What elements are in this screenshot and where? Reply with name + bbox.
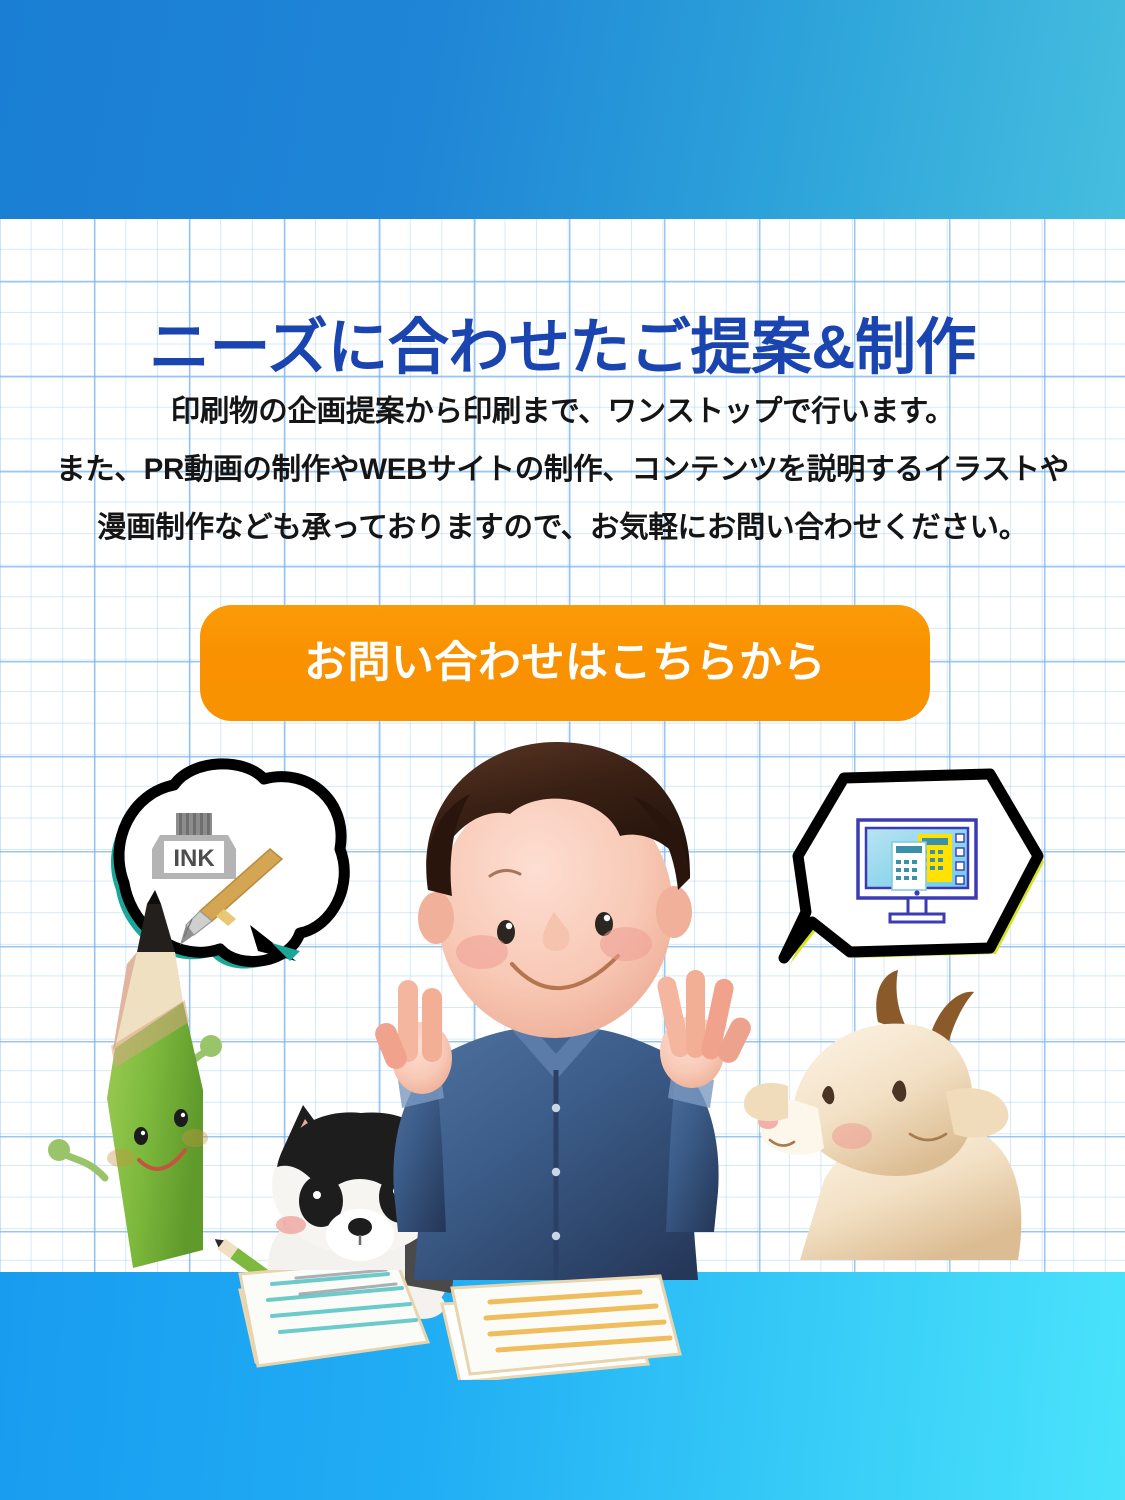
table-papers-layer <box>0 1270 1125 1430</box>
lead-line-1: 印刷物の企画提案から印刷まで、ワンストップで行います。 <box>0 383 1125 441</box>
paper-left-top <box>240 1270 428 1366</box>
boy-right-hand <box>656 970 755 1088</box>
monitor-bubble <box>784 760 1044 980</box>
goat-character <box>744 970 1021 1260</box>
ink-bottle-label: INK <box>173 845 215 872</box>
page-root: ニーズに合わせたご提案&制作 印刷物の企画提案から印刷まで、ワンストップで行いま… <box>0 0 1125 1500</box>
lead-paragraph: 印刷物の企画提案から印刷まで、ワンストップで行います。 また、PR動画の制作やW… <box>0 383 1125 557</box>
boy-left-hand <box>372 980 452 1094</box>
ink-bubble: INK <box>100 764 344 980</box>
paper-right-top <box>452 1276 680 1374</box>
contact-cta-button[interactable]: お問い合わせはこちらから <box>200 605 930 721</box>
lead-line-2: また、PR動画の制作やWEBサイトの制作、コンテンツを説明するイラストや <box>0 441 1125 499</box>
boy-character <box>372 742 755 1280</box>
lead-line-3: 漫画制作なども承っておりますので、お気軽にお問い合わせください。 <box>0 499 1125 557</box>
page-title: ニーズに合わせたご提案&制作 <box>0 313 1125 381</box>
top-band <box>0 0 1125 219</box>
